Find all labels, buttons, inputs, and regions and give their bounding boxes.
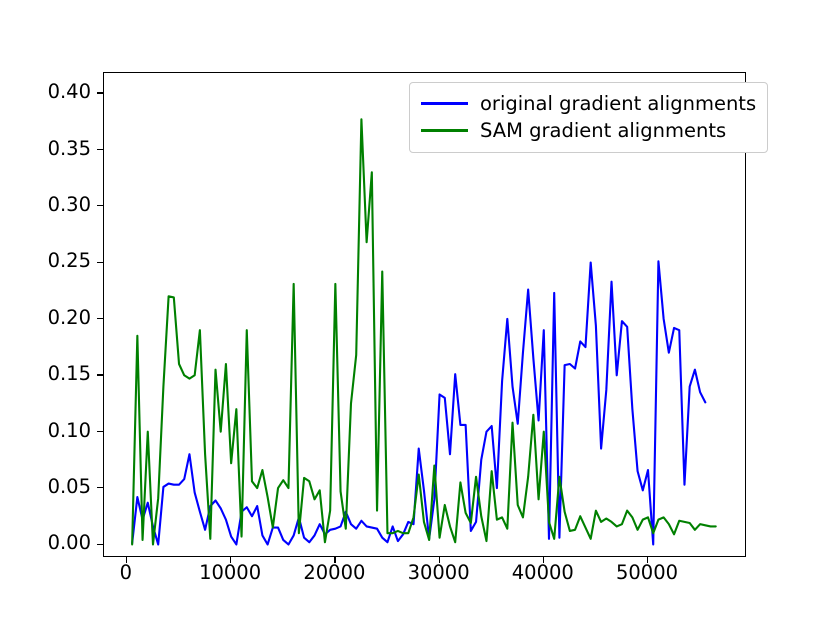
legend-color-swatch-green: [421, 129, 468, 133]
legend-label-original: original gradient alignments: [480, 94, 756, 114]
y-tick-label: 0.00: [0, 533, 100, 553]
y-tick-label: 0.15: [0, 364, 100, 384]
y-tick-label: 0.40: [0, 82, 100, 102]
chart-legend: original gradient alignments SAM gradien…: [409, 82, 768, 153]
legend-item-sam: SAM gradient alignments: [421, 117, 756, 144]
figure-canvas: 0.000.050.100.150.200.250.300.350.40 010…: [0, 0, 830, 623]
y-tick-label: 0.35: [0, 139, 100, 159]
legend-item-original: original gradient alignments: [421, 90, 756, 117]
y-tick-label: 0.30: [0, 195, 100, 215]
x-tick-label: 10000: [199, 563, 261, 583]
y-tick-label: 0.10: [0, 421, 100, 441]
legend-color-swatch-blue: [421, 102, 468, 106]
x-tick-label: 20000: [303, 563, 365, 583]
x-tick-label: 40000: [512, 563, 574, 583]
x-tick-label: 30000: [408, 563, 470, 583]
y-tick-label: 0.25: [0, 251, 100, 271]
x-tick-label: 50000: [616, 563, 678, 583]
legend-label-sam: SAM gradient alignments: [480, 121, 726, 141]
y-tick-label: 0.20: [0, 308, 100, 328]
x-tick-label: 0: [120, 563, 132, 583]
y-tick-label: 0.05: [0, 477, 100, 497]
